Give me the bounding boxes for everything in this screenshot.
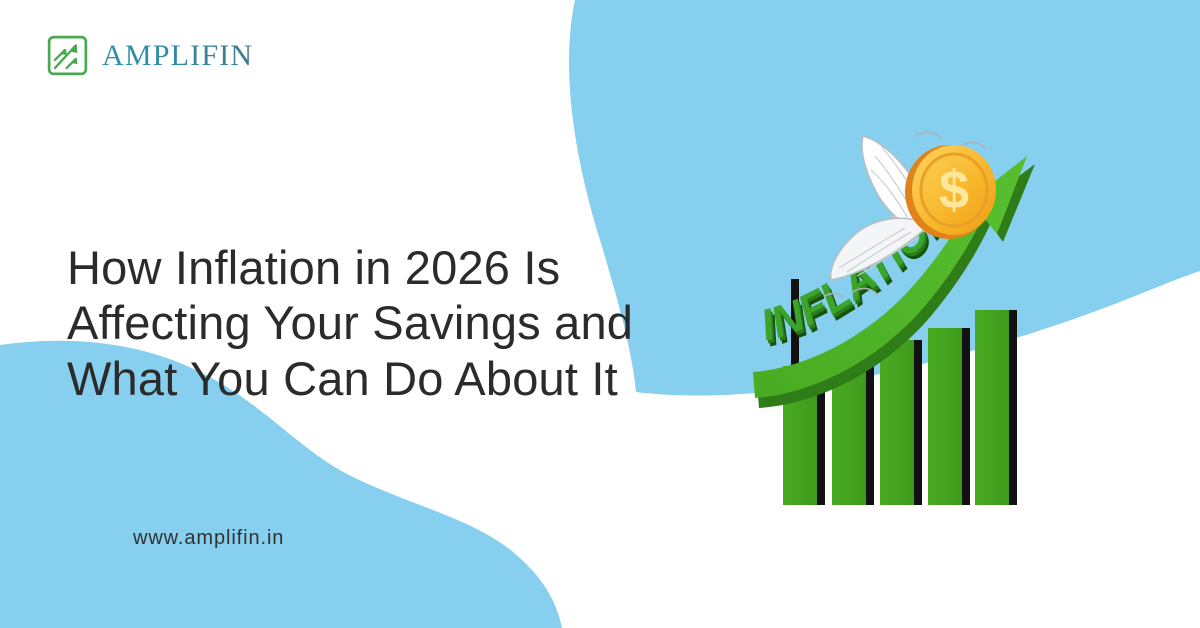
brand-logo[interactable]: AMPLIFIN — [46, 34, 253, 77]
svg-text:$: $ — [939, 160, 969, 220]
bar-item-4 — [928, 328, 970, 505]
inflation-growth-chart-illustration: INFLATION INFLATION INFLATION — [735, 120, 1055, 520]
page-title: How Inflation in 2026 Is Affecting Your … — [67, 240, 707, 406]
growth-arrows-square-icon — [46, 34, 89, 77]
website-url[interactable]: www.amplifin.in — [133, 527, 284, 550]
brand-wordmark: AMPLIFIN — [102, 39, 253, 73]
bar-item-3 — [880, 340, 922, 505]
headline-line-1: How Inflation in 2026 Is — [67, 240, 707, 295]
bar-item-5 — [975, 310, 1017, 505]
headline-line-2: Affecting Your Savings and — [67, 295, 707, 350]
headline-line-3: What You Can Do About It — [67, 351, 707, 406]
social-banner: AMPLIFIN How Inflation in 2026 Is Affect… — [0, 0, 1200, 628]
